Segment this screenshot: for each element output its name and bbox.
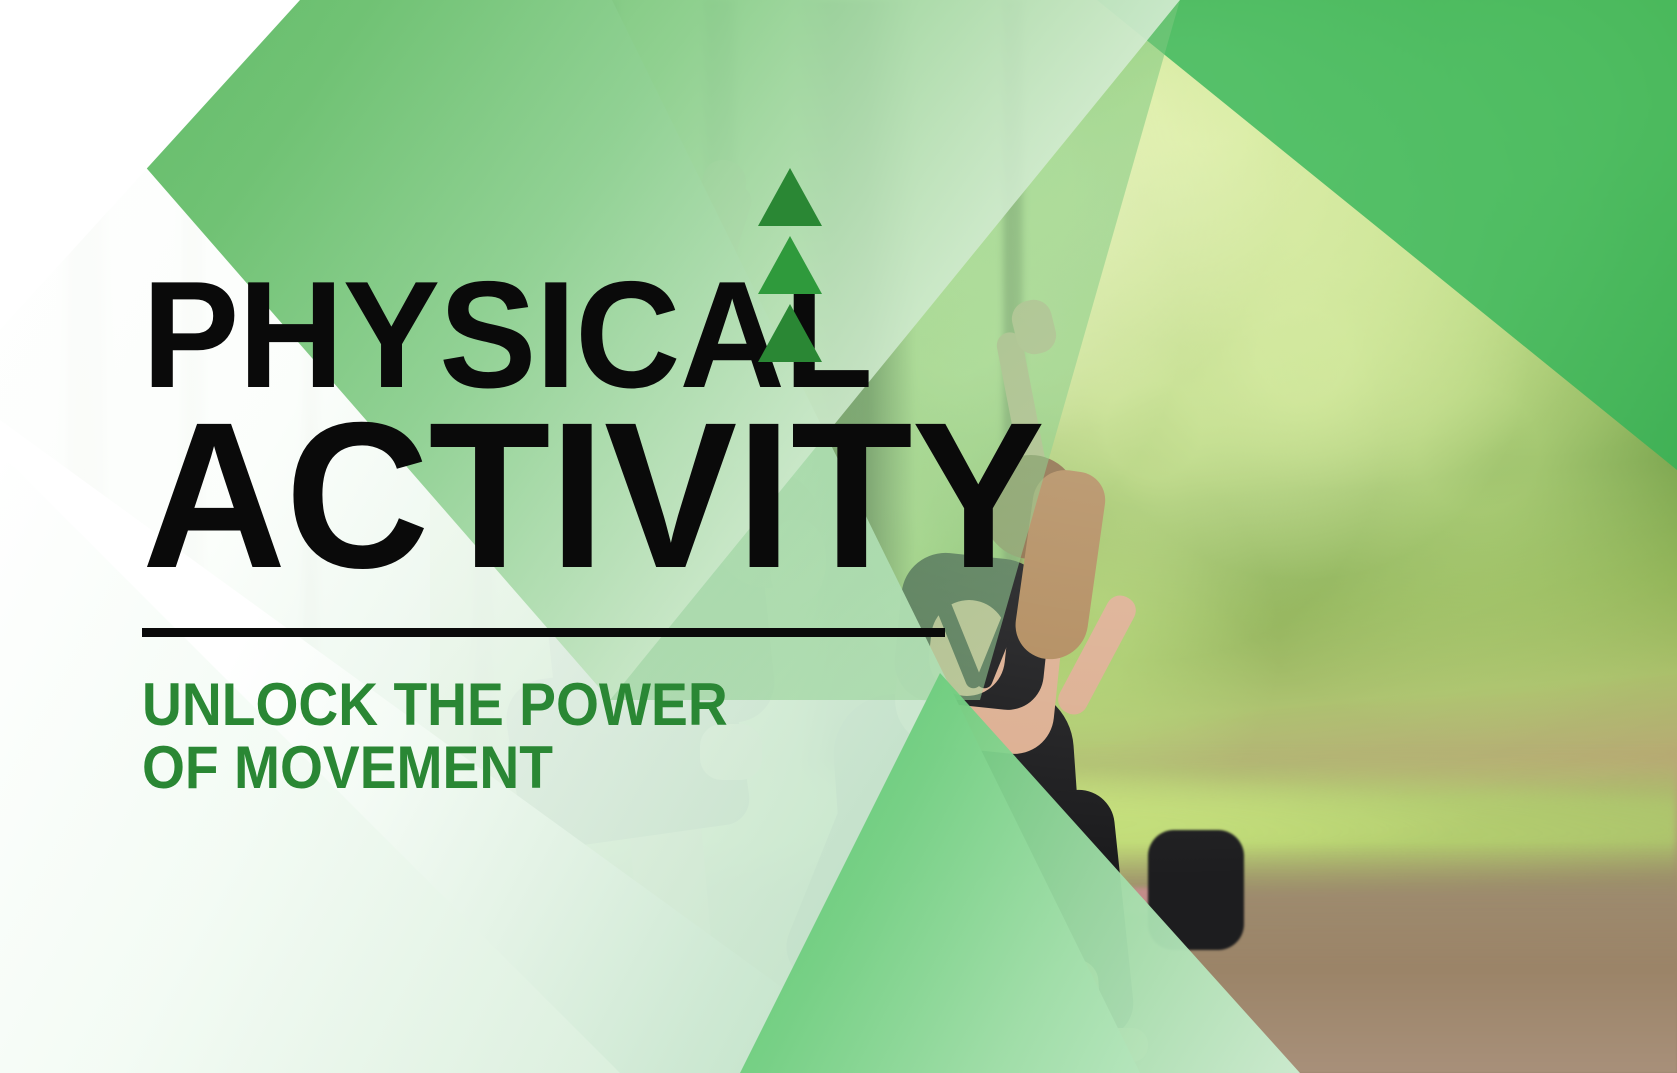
subtitle: UNLOCK THE POWER OF MOVEMENT bbox=[142, 673, 952, 800]
title-line-2: ACTIVITY bbox=[142, 407, 987, 586]
woman-foot bbox=[1028, 1028, 1148, 1062]
man-back-foot bbox=[561, 1010, 659, 1049]
divider-rule bbox=[142, 628, 945, 637]
triangle-up-icon bbox=[758, 304, 822, 362]
headline-block: PHYSICAL ACTIVITY UNLOCK THE POWER OF MO… bbox=[142, 270, 1022, 800]
triangle-up-icon bbox=[758, 168, 822, 226]
backpack bbox=[1148, 830, 1244, 950]
physical-activity-banner: PHYSICAL ACTIVITY UNLOCK THE POWER OF MO… bbox=[0, 0, 1677, 1073]
triangle-decoration-group bbox=[758, 168, 822, 372]
man-front-foot bbox=[677, 1018, 796, 1058]
triangle-up-icon bbox=[758, 236, 822, 294]
